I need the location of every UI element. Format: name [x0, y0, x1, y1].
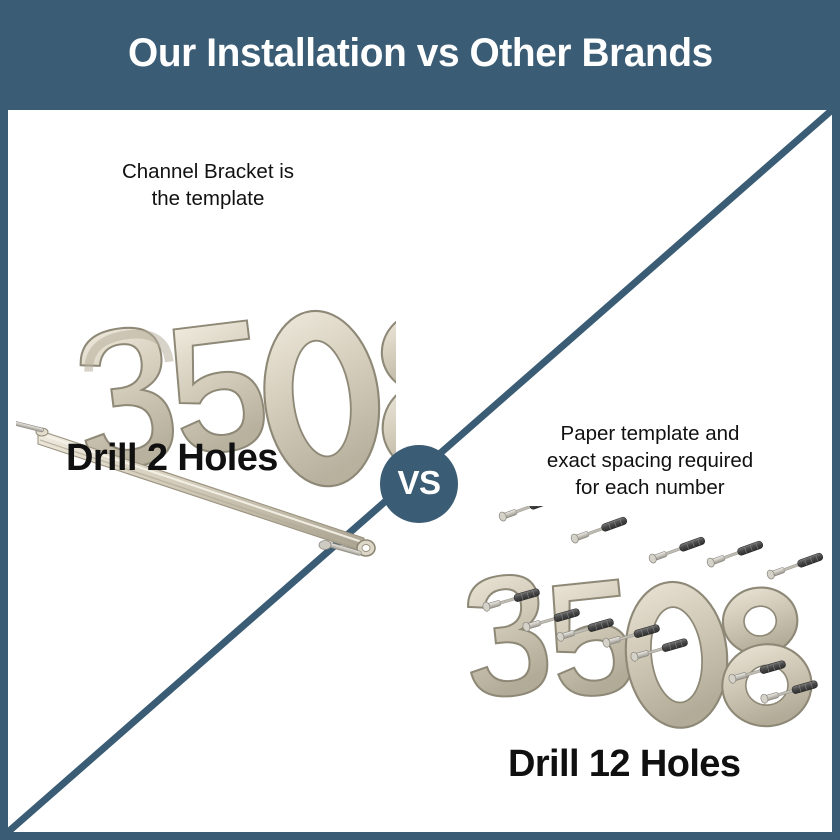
- infographic-root: Our Installation vs Other Brands: [0, 0, 840, 840]
- bracket-screw-left: [16, 418, 44, 432]
- right-caption: Paper template and exact spacing require…: [470, 420, 830, 501]
- left-headline: Drill 2 Holes: [66, 437, 278, 480]
- vs-badge: VS: [380, 445, 458, 523]
- individual-mount-product-image: [440, 506, 832, 766]
- header-band: Our Installation vs Other Brands: [0, 0, 840, 107]
- left-caption: Channel Bracket is the template: [38, 158, 378, 212]
- right-headline: Drill 12 Holes: [508, 743, 740, 786]
- channel-bracket-product-image: [16, 218, 396, 568]
- comparison-panel: Channel Bracket is the template Paper te…: [8, 110, 832, 832]
- page-title: Our Installation vs Other Brands: [128, 31, 713, 76]
- vs-label: VS: [397, 464, 440, 502]
